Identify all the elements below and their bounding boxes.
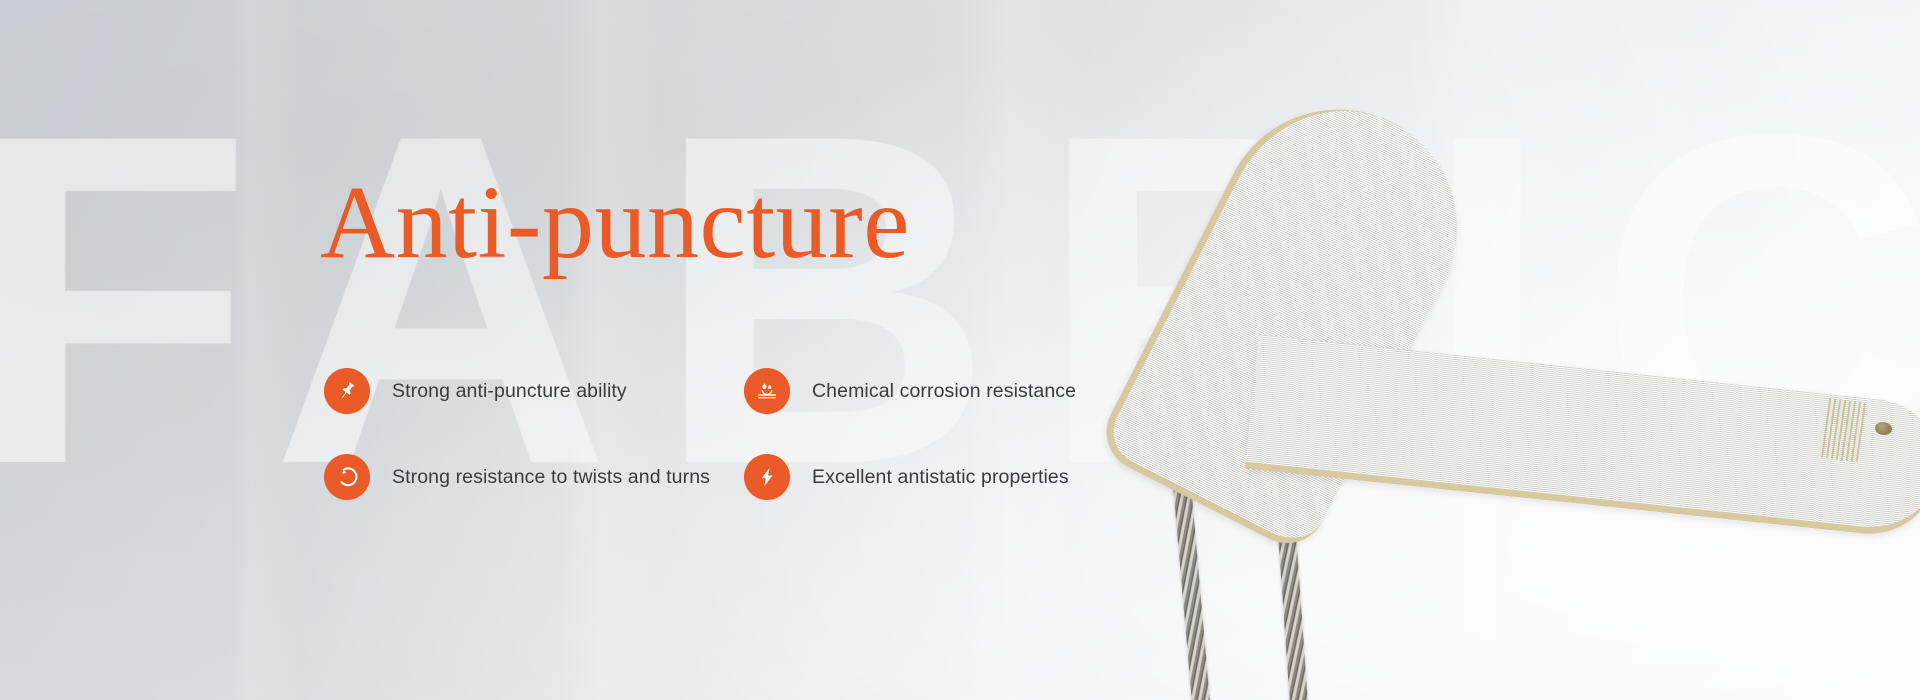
feature-label: Chemical corrosion resistance	[812, 380, 1076, 403]
rotate-arrow-icon	[324, 454, 370, 500]
feature-item-anti-puncture: Strong anti-puncture ability	[324, 348, 734, 434]
midsole-eyelet-hole	[1874, 421, 1893, 436]
pushpin-icon	[324, 368, 370, 414]
page-title: Anti-puncture	[320, 168, 910, 277]
droplet-surface-icon	[744, 368, 790, 414]
product-hero-banner: FABRIC Anti-puncture	[0, 0, 1920, 700]
feature-item-twist-resistance: Strong resistance to twists and turns	[324, 434, 734, 520]
feature-label: Strong resistance to twists and turns	[392, 466, 710, 489]
feature-label: Strong anti-puncture ability	[392, 380, 627, 403]
fabric-printed-mark	[1818, 398, 1866, 463]
banner-content: Anti-puncture Strong anti-puncture abili…	[320, 0, 1320, 700]
lightning-bolt-icon	[744, 454, 790, 500]
feature-label: Excellent antistatic properties	[812, 466, 1069, 489]
feature-item-chemical-corrosion: Chemical corrosion resistance	[744, 348, 1154, 434]
midsole-heel-section	[1245, 334, 1920, 540]
feature-list: Strong anti-puncture ability Chemical co…	[324, 348, 1264, 520]
feature-item-antistatic: Excellent antistatic properties	[744, 434, 1154, 520]
